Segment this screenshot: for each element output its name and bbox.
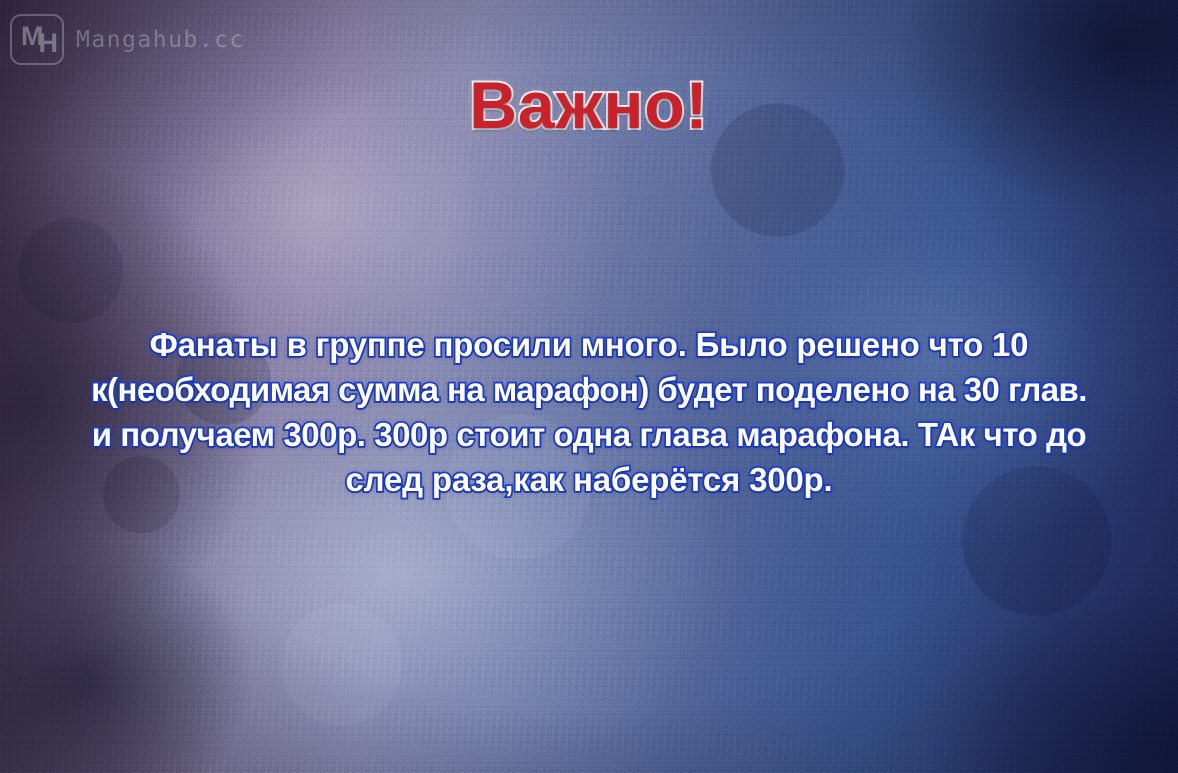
logo-letter-m: M bbox=[21, 23, 39, 50]
body-line-2: к(необходимая сумма на марафон) будет по… bbox=[60, 367, 1118, 412]
announcement-page: MH Mangahub.cc Важно! Фанаты в группе пр… bbox=[0, 0, 1178, 773]
page-title: Важно! bbox=[0, 72, 1178, 138]
body-line-4: след раза,как наберётся 300р. bbox=[60, 457, 1118, 502]
watermark-site-text: Mangahub.cc bbox=[76, 27, 245, 53]
body-line-1: Фанаты в группе просили много. Было реше… bbox=[60, 322, 1118, 367]
watermark: MH Mangahub.cc bbox=[10, 14, 245, 65]
announcement-body: Фанаты в группе просили много. Было реше… bbox=[60, 322, 1118, 502]
body-line-3: и получаем 300р. 300р стоит одна глава м… bbox=[60, 412, 1118, 457]
logo-letter-h: H bbox=[39, 30, 54, 57]
mangahub-logo-icon: MH bbox=[10, 14, 64, 65]
